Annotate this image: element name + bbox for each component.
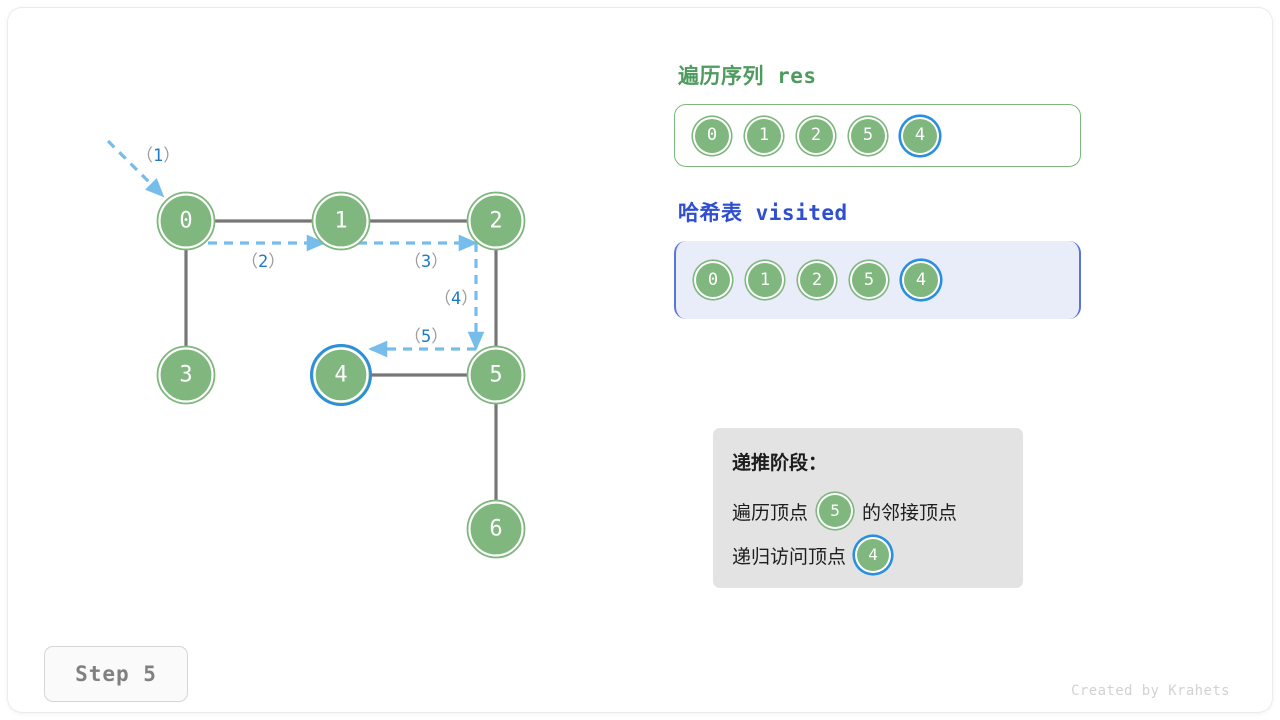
step-label-1: （1） [136, 146, 180, 166]
visited-item-label: 0 [708, 272, 718, 289]
explanation-line-2: 递归访问顶点 4 [732, 533, 1023, 577]
graph-node-0[interactable]: 0 [157, 192, 215, 250]
graph-node-3-label: 3 [179, 363, 192, 388]
step-label-2: （2） [241, 252, 285, 272]
visited-item-label: 4 [916, 272, 926, 289]
graph-diagram: 0 1 2 3 [8, 8, 648, 648]
res-list: 0 1 2 5 4 [674, 104, 1081, 167]
step-badge: Step 5 [44, 646, 188, 702]
visited-item[interactable]: 0 [694, 261, 732, 299]
res-item[interactable]: 5 [849, 117, 887, 155]
step-label-3: （3） [404, 252, 448, 272]
res-item-label: 4 [915, 127, 925, 144]
traversal-arrows [108, 141, 476, 349]
res-item-label: 5 [863, 127, 873, 144]
graph-node-2[interactable]: 2 [467, 192, 525, 250]
res-item-highlighted[interactable]: 4 [901, 117, 939, 155]
graph-node-0-label: 0 [179, 209, 192, 234]
graph-node-3[interactable]: 3 [157, 346, 215, 404]
explanation-line-1: 遍历顶点 5 的邻接顶点 [732, 489, 1023, 533]
graph-node-4-label: 4 [334, 363, 347, 388]
explanation-box: 递推阶段： 遍历顶点 5 的邻接顶点 递归访问顶点 4 [713, 428, 1023, 588]
explanation-line-1-pre: 遍历顶点 [732, 498, 808, 525]
graph-node-2-label: 2 [489, 209, 502, 234]
visited-set: 0 1 2 5 4 [674, 241, 1081, 319]
explanation-line-2-pre: 递归访问顶点 [732, 542, 846, 569]
explanation-chip-5: 5 [817, 493, 853, 529]
res-item[interactable]: 1 [745, 117, 783, 155]
res-title: 遍历序列 res [678, 60, 1094, 90]
graph-nodes: 0 1 2 3 [157, 192, 525, 558]
step-label-5: （5） [404, 327, 448, 347]
visited-item-highlighted[interactable]: 4 [902, 261, 940, 299]
explanation-line-1-post: 的邻接顶点 [862, 498, 957, 525]
explanation-chip-4-label: 4 [868, 547, 878, 563]
visited-item-label: 5 [864, 272, 874, 289]
graph-node-6-label: 6 [489, 517, 502, 542]
graph-node-5-label: 5 [489, 363, 502, 388]
res-item[interactable]: 0 [693, 117, 731, 155]
res-item-label: 2 [811, 127, 821, 144]
visited-title: 哈希表 visited [678, 197, 1094, 227]
explanation-heading: 递推阶段： [732, 448, 1023, 475]
visited-item[interactable]: 5 [850, 261, 888, 299]
explanation-chip-4: 4 [855, 537, 891, 573]
graph-node-4[interactable]: 4 [311, 345, 370, 404]
graph-node-6[interactable]: 6 [467, 500, 525, 558]
visited-item[interactable]: 2 [798, 261, 836, 299]
graph-node-5[interactable]: 5 [467, 346, 525, 404]
credit-text: Created by Krahets [1071, 683, 1230, 699]
page-card: 0 1 2 3 [8, 8, 1272, 712]
res-item-label: 1 [759, 127, 769, 144]
explanation-chip-5-label: 5 [830, 503, 840, 519]
state-panel: 遍历序列 res 0 1 2 5 4 哈希表 visited 0 [674, 60, 1094, 319]
visited-item[interactable]: 1 [746, 261, 784, 299]
visited-item-label: 1 [760, 272, 770, 289]
res-item[interactable]: 2 [797, 117, 835, 155]
graph-node-1[interactable]: 1 [312, 192, 370, 250]
step-label-4: （4） [434, 289, 478, 309]
graph-node-1-label: 1 [334, 209, 347, 234]
res-item-label: 0 [707, 127, 717, 144]
visited-item-label: 2 [812, 272, 822, 289]
